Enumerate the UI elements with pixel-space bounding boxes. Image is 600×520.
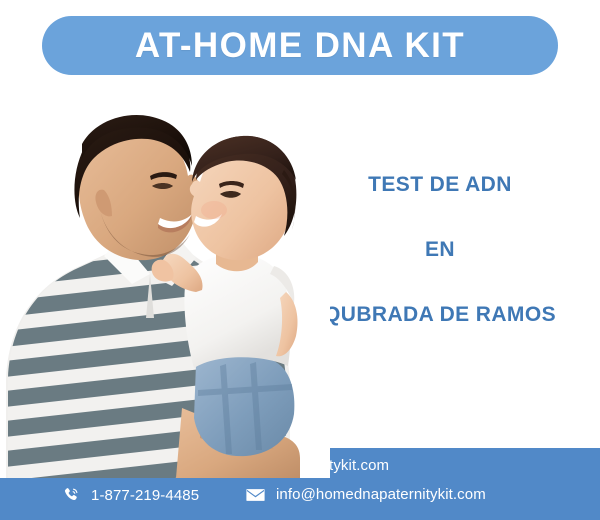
dna-kit-promo-card: AT-HOME DNA KIT bbox=[0, 0, 600, 520]
headline-line-3: QUBRADA DE RAMOS bbox=[290, 304, 590, 325]
envelope-icon bbox=[246, 488, 265, 502]
footer-phone-row[interactable]: 1-877-219-4485 bbox=[62, 486, 199, 504]
email-text: info@homednapaternitykit.com bbox=[276, 486, 486, 503]
page-title: AT-HOME DNA KIT bbox=[135, 28, 465, 63]
footer-email-row[interactable]: info@homednapaternitykit.com bbox=[246, 486, 486, 503]
header-banner: AT-HOME DNA KIT bbox=[42, 16, 558, 75]
headline-block: TEST DE ADN EN QUBRADA DE RAMOS bbox=[290, 160, 590, 325]
phone-text: 1-877-219-4485 bbox=[91, 487, 199, 504]
headline-line-2: EN bbox=[290, 239, 590, 260]
phone-icon bbox=[62, 486, 80, 504]
father-and-child-photo bbox=[0, 78, 330, 478]
headline-line-1: TEST DE ADN bbox=[290, 174, 590, 195]
